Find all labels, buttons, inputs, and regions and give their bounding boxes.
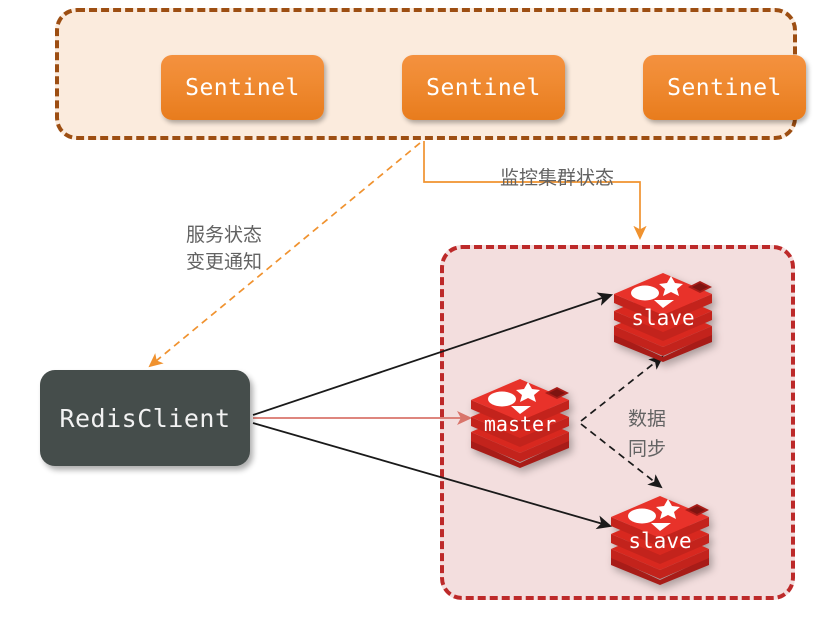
sentinel-node-1[interactable]: Sentinel [161,55,324,120]
sentinel-node-2[interactable]: Sentinel [402,55,565,120]
sentinel-node-1-label: Sentinel [185,75,300,101]
redis-logo-icon [608,262,718,362]
edge-label-data-sync: 数据 同步 [628,404,666,464]
edge-label-service-state-notify: 服务状态 变更通知 [186,222,262,276]
sentinel-node-2-label: Sentinel [426,75,541,101]
redis-logo-icon [605,485,715,585]
redis-node-slave-top[interactable]: slave [608,262,718,362]
redis-node-master[interactable]: master [465,368,575,468]
redis-client-label: RedisClient [59,404,230,433]
redis-node-slave-bottom[interactable]: slave [605,485,715,585]
diagram-canvas: Sentinel Sentinel Sentinel [0,0,820,617]
sentinel-node-3[interactable]: Sentinel [643,55,806,120]
sentinel-node-3-label: Sentinel [667,75,782,101]
redis-logo-icon [465,368,575,468]
redis-client-node[interactable]: RedisClient [40,370,250,466]
edge-label-monitor-cluster-state: 监控集群状态 [500,165,614,192]
sentinel-group-container: Sentinel Sentinel Sentinel [55,8,797,140]
